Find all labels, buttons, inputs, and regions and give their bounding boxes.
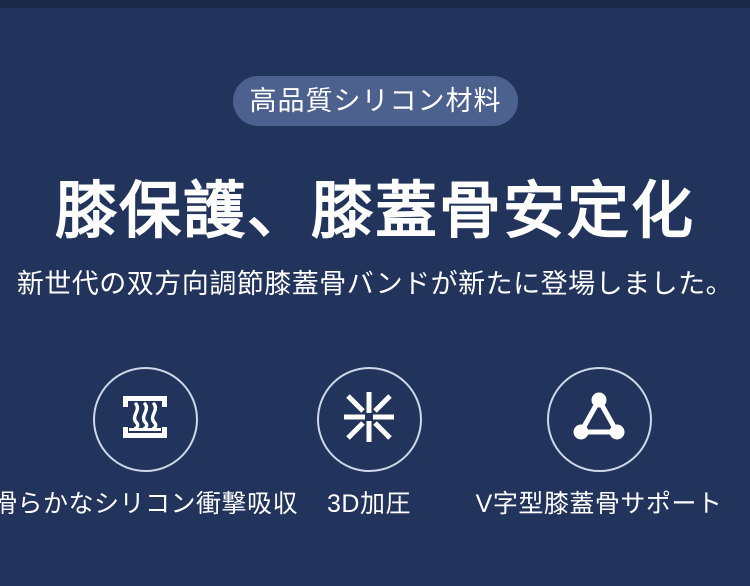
triangle-nodes-icon: [570, 388, 628, 451]
feature-item-patella-support: V字型膝蓋骨サポート: [464, 367, 734, 519]
feature-icon-circle: [547, 367, 652, 472]
promo-banner: 高品質シリコン材料 膝保護、膝蓋骨安定化 新世代の双方向調節膝蓋骨バンドが新たに…: [0, 0, 750, 586]
quality-badge: 高品質シリコン材料: [233, 76, 518, 126]
compression-arrows-icon: [340, 388, 398, 451]
feature-icon-circle: [93, 367, 198, 472]
top-edge-band: [0, 0, 750, 8]
quality-badge-label: 高品質シリコン材料: [250, 88, 502, 115]
shock-absorption-icon: [116, 388, 174, 451]
feature-caption: 3D加圧: [327, 490, 411, 519]
feature-caption: V字型膝蓋骨サポート: [476, 490, 723, 519]
feature-item-shock-absorption: 滑らかなシリコン衝撃吸収: [16, 367, 274, 519]
feature-caption: 滑らかなシリコン衝撃吸収: [0, 490, 298, 519]
feature-list: 滑らかなシリコン衝撃吸収: [0, 367, 750, 519]
feature-icon-circle: [317, 367, 422, 472]
feature-item-3d-compression: 3D加圧: [274, 367, 464, 519]
page-title: 膝保護、膝蓋骨安定化: [0, 178, 750, 246]
page-subtitle: 新世代の双方向調節膝蓋骨バンドが新たに登場しました。: [0, 268, 750, 300]
